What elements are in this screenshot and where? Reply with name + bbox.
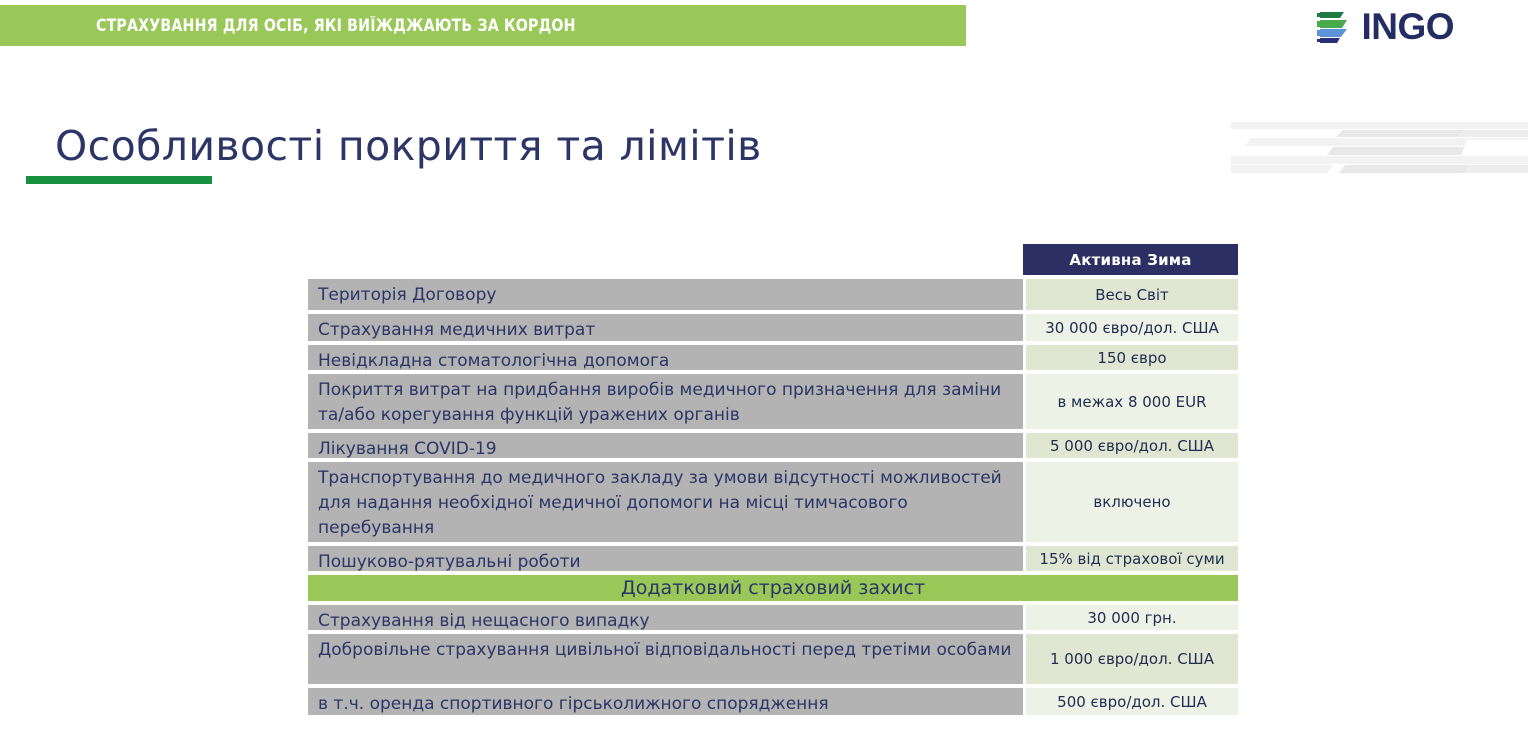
table-row-value: 150 євро bbox=[1026, 345, 1238, 370]
table-row-label: в т.ч. оренда спортивного гірськолижного… bbox=[308, 688, 1023, 715]
table-row: Добровільне страхування цивільної відпов… bbox=[308, 634, 1238, 684]
table-row-label: Страхування від нещасного випадку bbox=[308, 605, 1023, 630]
ingo-logo-mark-icon bbox=[1316, 9, 1350, 45]
table-row-label: Страхування медичних витрат bbox=[308, 314, 1023, 341]
table-row-label: Лікування COVID-19 bbox=[308, 433, 1023, 458]
table-row-label: Пошуково-рятувальні роботи bbox=[308, 546, 1023, 571]
table-section-band-additional-protection: Додатковий страховий захист bbox=[308, 575, 1238, 601]
ingo-logo-text: INGO bbox=[1361, 8, 1454, 45]
header-banner: СТРАХУВАННЯ ДЛЯ ОСІБ, ЯКІ ВИЇЖДЖАЮТЬ ЗА … bbox=[0, 5, 966, 46]
table-row: Страхування медичних витрат 30 000 євро/… bbox=[308, 314, 1238, 341]
table-row: Лікування COVID-19 5 000 євро/дол. США bbox=[308, 433, 1238, 458]
coverage-table: Активна Зима Територія Договору Весь Сві… bbox=[308, 244, 1238, 719]
table-row-value: 500 євро/дол. США bbox=[1026, 688, 1238, 715]
table-row-value: 1 000 євро/дол. США bbox=[1026, 634, 1238, 684]
table-header-spacer bbox=[308, 244, 1023, 275]
table-row: Невідкладна стоматологічна допомога 150 … bbox=[308, 345, 1238, 370]
table-header-row: Активна Зима bbox=[308, 244, 1238, 275]
table-row-value: 30 000 євро/дол. США bbox=[1026, 314, 1238, 341]
table-row-label: Покриття витрат на придбання виробів мед… bbox=[308, 374, 1023, 429]
table-row-value: 15% від страхової суми bbox=[1026, 546, 1238, 571]
header-banner-text: СТРАХУВАННЯ ДЛЯ ОСІБ, ЯКІ ВИЇЖДЖАЮТЬ ЗА … bbox=[96, 5, 576, 46]
table-row: Покриття витрат на придбання виробів мед… bbox=[308, 374, 1238, 429]
title-underline-rule bbox=[26, 176, 212, 184]
table-row-label: Добровільне страхування цивільної відпов… bbox=[308, 634, 1023, 684]
table-row-label: Невідкладна стоматологічна допомога bbox=[308, 345, 1023, 370]
table-row: Страхування від нещасного випадку 30 000… bbox=[308, 605, 1238, 630]
ingo-logo: INGO bbox=[1316, 8, 1454, 45]
table-row-value: включено bbox=[1026, 462, 1238, 542]
table-row: в т.ч. оренда спортивного гірськолижного… bbox=[308, 688, 1238, 715]
table-column-header-active-winter: Активна Зима bbox=[1023, 244, 1238, 275]
table-row: Транспортування до медичного закладу за … bbox=[308, 462, 1238, 542]
table-row-value: 5 000 євро/дол. США bbox=[1026, 433, 1238, 458]
table-row-label: Транспортування до медичного закладу за … bbox=[308, 462, 1023, 542]
table-row-label: Територія Договору bbox=[308, 279, 1023, 310]
table-row: Пошуково-рятувальні роботи 15% від страх… bbox=[308, 546, 1238, 571]
decorative-stripes-graphic bbox=[1223, 118, 1528, 182]
table-row: Територія Договору Весь Світ bbox=[308, 279, 1238, 310]
table-row-value: Весь Світ bbox=[1026, 279, 1238, 310]
page-title: Особливості покриття та лімітів bbox=[55, 122, 762, 170]
table-row-value: в межах 8 000 EUR bbox=[1026, 374, 1238, 429]
table-row-value: 30 000 грн. bbox=[1026, 605, 1238, 630]
